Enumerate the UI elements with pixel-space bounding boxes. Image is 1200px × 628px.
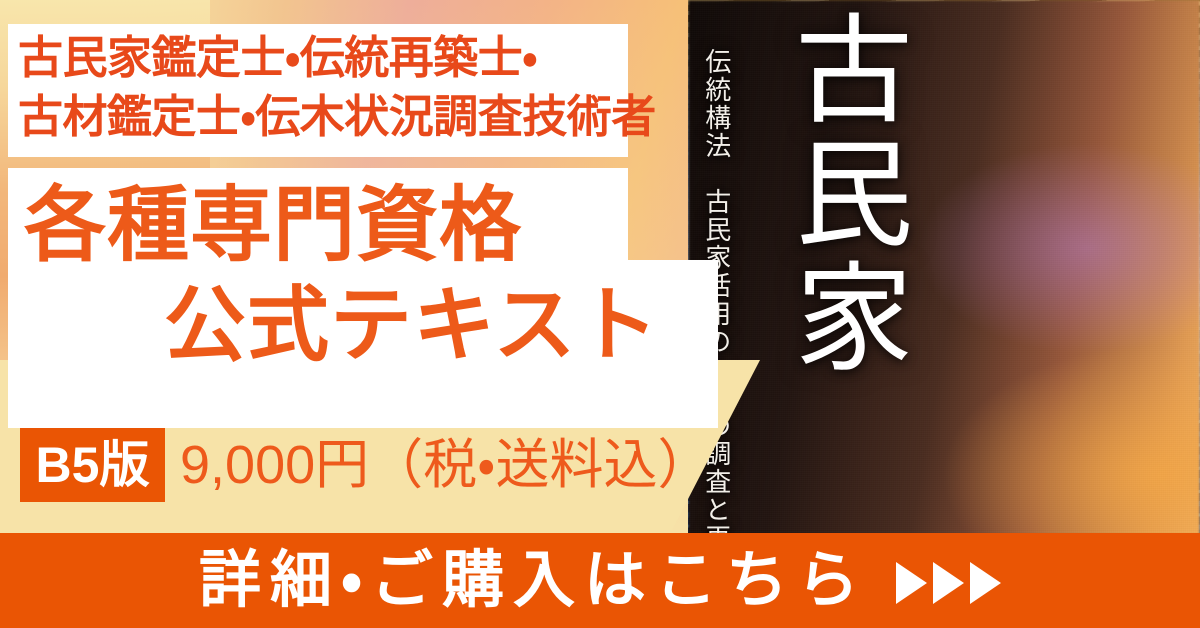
cover-photo-blurred-gradient	[688, 0, 1200, 540]
book-cover-title: 古民家	[774, 8, 909, 380]
play-arrow-icon	[896, 562, 927, 604]
headline: 古民家鑑定士・伝統再築士・ 古材鑑定士・伝木状況調査技術者	[18, 29, 718, 146]
play-arrow-icon	[970, 562, 1001, 604]
main-title-line-1: 各種専門資格	[16, 176, 716, 276]
main-title: 各種専門資格 公式テキスト	[16, 176, 716, 376]
main-title-line-2: 公式テキスト	[16, 276, 716, 376]
format-badge: B5版	[20, 428, 165, 502]
price-text: 9,000円（税・送料込）	[180, 428, 712, 502]
play-arrow-icon	[933, 562, 964, 604]
cta-arrow-group	[896, 562, 1001, 604]
cta-bar[interactable]: 詳細・ご購入はこちら	[0, 533, 1200, 628]
book-cover-image	[688, 0, 1200, 540]
headline-line-1: 古民家鑑定士・伝統再築士・	[18, 29, 718, 88]
cta-label: 詳細・ご購入はこちら	[199, 550, 868, 612]
promo-banner: 古民家 伝統構法 古民家活用のための調査と再生の 古民家鑑定士・伝統再築士・ 古…	[0, 0, 1200, 628]
headline-line-2: 古材鑑定士・伝木状況調査技術者	[18, 88, 718, 147]
